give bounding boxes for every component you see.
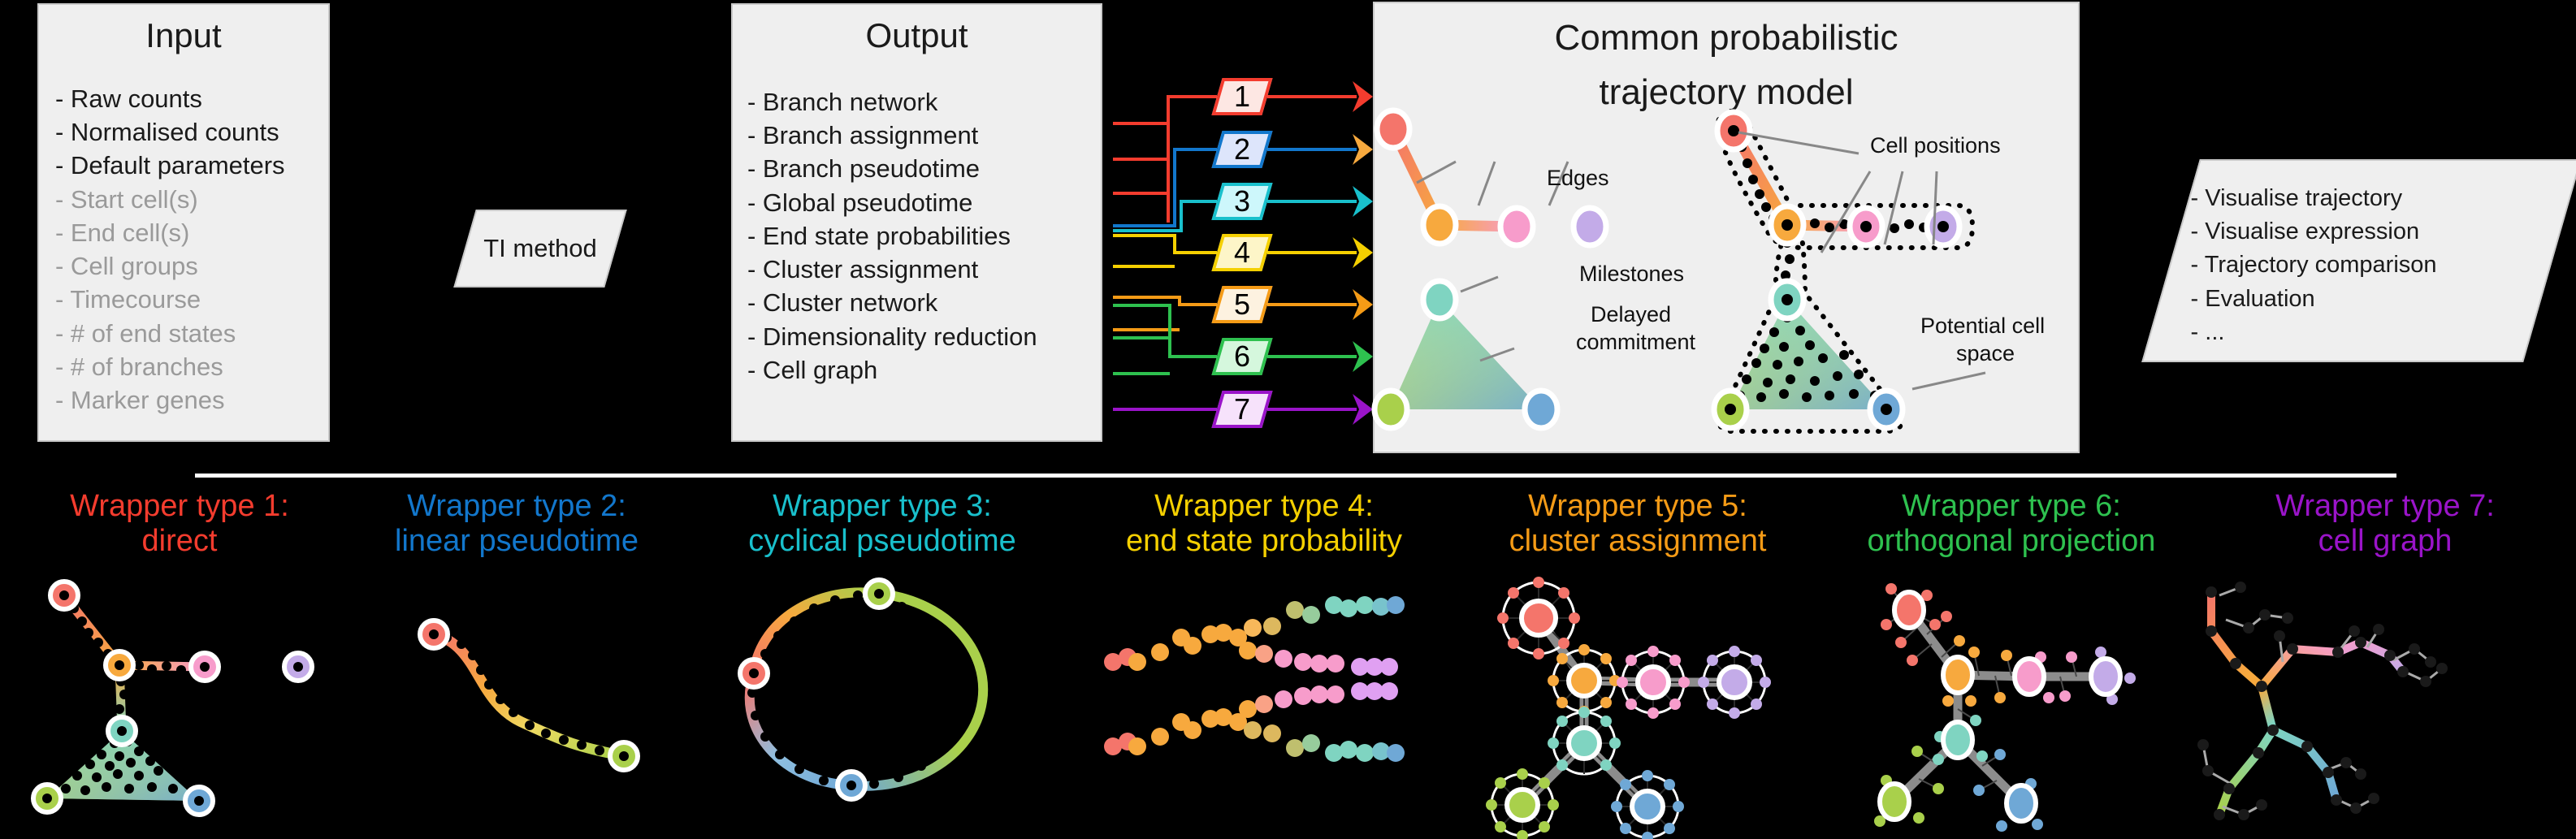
delayed-commitment-label-line1: Delayed	[1591, 302, 1671, 327]
wrapper-figure-7	[2202, 571, 2569, 831]
output-item: - Cluster assignment	[747, 253, 1101, 286]
output-item-list: - Branch network - Branch assignment - B…	[747, 85, 1101, 387]
wrapper-figure-6	[1828, 571, 2195, 831]
visualise-item-list: - Visualise trajectory - Visualise expre…	[2191, 182, 2545, 349]
visualise-item: - Visualise expression	[2191, 215, 2545, 249]
wrapper-figure-5	[1454, 571, 1821, 831]
visualise-item: - Evaluation	[2191, 283, 2545, 316]
wrapper-column-1: Wrapper type 1: direct	[0, 489, 363, 831]
wrapper-column-5: Wrapper type 5: cluster assignment	[1454, 489, 1821, 831]
wrapper-title-2-line2: linear pseudotime	[333, 524, 700, 559]
wrapper-title-5-line2: cluster assignment	[1454, 524, 1821, 559]
wrapper-title-7-line1: Wrapper type 7:	[2202, 489, 2569, 524]
input-item-list: - Raw counts - Normalised counts - Defau…	[55, 82, 328, 417]
wrapper-figure-2	[333, 571, 700, 831]
input-item: - Raw counts	[55, 82, 328, 115]
numbered-box-label: 6	[1234, 342, 1250, 371]
diagram-canvas: Input - Raw counts - Normalised counts -…	[0, 0, 2576, 839]
ti-method-node: TI method	[453, 210, 627, 288]
wrapper-title-3-line1: Wrapper type 3:	[699, 489, 1066, 524]
input-item: - Cell groups	[55, 249, 328, 283]
wrapper-title-6-line1: Wrapper type 6:	[1828, 489, 2195, 524]
input-panel: Input - Raw counts - Normalised counts -…	[37, 3, 330, 442]
numbered-box-2: 2	[1211, 131, 1272, 168]
input-item: - Timecourse	[55, 283, 328, 316]
input-item: - # of end states	[55, 317, 328, 350]
model-panel-title-line1: Common probabilistic	[1375, 18, 2078, 58]
numbered-box-label: 2	[1234, 135, 1250, 164]
output-item: - Global pseudotime	[747, 186, 1101, 219]
common-model-panel: Common probabilistic trajectory model	[1373, 2, 2080, 453]
wrapper-column-2: Wrapper type 2: linear pseudotime	[333, 489, 700, 831]
input-item: - Default parameters	[55, 149, 328, 182]
wrapper-column-7: Wrapper type 7: cell graph	[2202, 489, 2569, 831]
output-panel: Output - Branch network - Branch assignm…	[731, 3, 1102, 442]
output-item: - End state probabilities	[747, 219, 1101, 253]
delayed-commitment-label-line2: commitment	[1576, 330, 1695, 355]
output-item: - Cluster network	[747, 286, 1101, 319]
output-item: - Dimensionality reduction	[747, 320, 1101, 353]
wrapper-title-2-line1: Wrapper type 2:	[333, 489, 700, 524]
numbered-box-label: 4	[1234, 238, 1250, 267]
input-item: - Marker genes	[55, 383, 328, 417]
wrapper-title-5-line1: Wrapper type 5:	[1454, 489, 1821, 524]
numbered-box-5: 5	[1211, 286, 1272, 323]
input-panel-title: Input	[39, 16, 328, 54]
ti-method-label: TI method	[466, 211, 614, 286]
milestones-label: Milestones	[1579, 262, 1684, 287]
numbered-box-6: 6	[1211, 338, 1272, 375]
numbered-box-column: 1 2 3 4 5 6 7	[1113, 57, 1373, 439]
input-item: - Normalised counts	[55, 115, 328, 149]
numbered-box-7: 7	[1211, 391, 1272, 428]
numbered-box-label: 3	[1234, 187, 1250, 216]
wrapper-title-1-line1: Wrapper type 1:	[0, 489, 363, 524]
wrapper-column-6: Wrapper type 6: orthogonal projection	[1828, 489, 2195, 831]
output-item: - Cell graph	[747, 353, 1101, 387]
section-divider	[195, 474, 2396, 478]
visualise-panel-inner: - Visualise trajectory - Visualise expre…	[2167, 182, 2545, 382]
wrapper-figure-1	[0, 571, 363, 831]
wrapper-title-4-line1: Wrapper type 4:	[1080, 489, 1448, 524]
wrapper-column-4: Wrapper type 4: end state probability	[1080, 489, 1448, 831]
wrapper-column-3: Wrapper type 3: cyclical pseudotime	[699, 489, 1066, 831]
wrapper-title-4-line2: end state probability	[1080, 524, 1448, 559]
wrapper-title-1-line2: direct	[0, 524, 363, 559]
output-item: - Branch pseudotime	[747, 152, 1101, 185]
wrapper-title-7-line2: cell graph	[2202, 524, 2569, 559]
input-item: - Start cell(s)	[55, 183, 328, 216]
input-item: - # of branches	[55, 350, 328, 383]
visualise-item: - ...	[2191, 316, 2545, 349]
potential-cell-space-label-line2: space	[1956, 341, 2015, 366]
potential-cell-space-label-line1: Potential cell	[1920, 314, 2045, 339]
wrapper-title-3-line2: cyclical pseudotime	[699, 524, 1066, 559]
visualise-panel: - Visualise trajectory - Visualise expre…	[2141, 159, 2576, 362]
output-panel-title: Output	[733, 16, 1101, 54]
numbered-box-label: 5	[1234, 290, 1250, 319]
visualise-item: - Visualise trajectory	[2191, 182, 2545, 215]
numbered-box-label: 7	[1234, 395, 1250, 424]
numbered-box-4: 4	[1211, 234, 1272, 271]
wrapper-figure-4	[1080, 571, 1448, 831]
numbered-box-3: 3	[1211, 183, 1272, 220]
output-item: - Branch assignment	[747, 119, 1101, 152]
wrapper-title-6-line2: orthogonal projection	[1828, 524, 2195, 559]
output-item: - Branch network	[747, 85, 1101, 119]
cell-positions-label: Cell positions	[1870, 133, 2001, 158]
input-item: - End cell(s)	[55, 216, 328, 249]
edges-label: Edges	[1547, 166, 1609, 191]
numbered-box-1: 1	[1211, 78, 1272, 115]
wrapper-figure-3	[699, 571, 1066, 831]
visualise-item: - Trajectory comparison	[2191, 249, 2545, 282]
numbered-box-label: 1	[1234, 82, 1250, 111]
